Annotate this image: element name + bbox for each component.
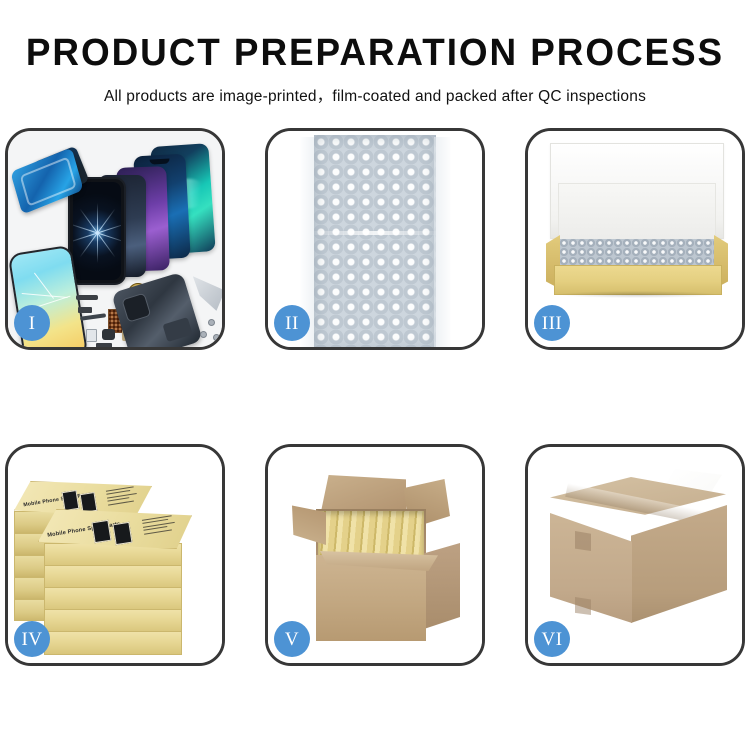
- screw-icon: [208, 319, 215, 326]
- process-step-panel-5[interactable]: V: [265, 444, 485, 666]
- process-step-panel-3[interactable]: III: [525, 128, 745, 350]
- step-badge-1: I: [14, 305, 50, 341]
- part-bracket-icon: [96, 343, 112, 347]
- part-speaker-icon: [76, 295, 98, 300]
- bubble-wrapped-contents-icon: [560, 239, 714, 267]
- process-step-panel-2[interactable]: II: [265, 128, 485, 350]
- screw-icon: [200, 331, 207, 338]
- part-flex-cable-icon: [80, 313, 106, 321]
- box-inner-foam-icon: [558, 183, 716, 243]
- step-badge-5: V: [274, 621, 310, 657]
- step-badge-2: II: [274, 305, 310, 341]
- box-artwork-screen-icon: [112, 522, 132, 545]
- process-step-panel-6[interactable]: VI: [525, 444, 745, 666]
- process-step-panel-1[interactable]: I: [5, 128, 225, 350]
- retail-box-edge: [44, 609, 182, 633]
- box-artwork-screen-icon: [91, 520, 111, 543]
- box-shadow: [558, 291, 716, 298]
- carton-handle-tab-icon: [575, 597, 591, 615]
- process-step-grid: I II III: [0, 128, 750, 666]
- retail-box-edge: [44, 565, 182, 589]
- bubble-wrap-bubbles-icon: [314, 135, 436, 347]
- part-camera-icon: [102, 329, 115, 340]
- box-artwork-screen-icon: [80, 492, 98, 513]
- retail-box-edge: [44, 587, 182, 611]
- retail-box-edge: [44, 631, 182, 655]
- box-spec-lines: [106, 485, 142, 507]
- step-badge-3: III: [534, 305, 570, 341]
- carton-handle-tab-icon: [575, 531, 591, 551]
- page-subtitle: All products are image-printed，film-coat…: [0, 84, 750, 106]
- shattered-pattern: [73, 182, 121, 280]
- bubble-wrap-edge-right: [434, 137, 452, 347]
- screw-icon: [213, 334, 220, 341]
- box-artwork-screen-icon: [62, 490, 80, 511]
- step-badge-6: VI: [534, 621, 570, 657]
- part-bracket-icon: [78, 307, 92, 313]
- page-title: PRODUCT PREPARATION PROCESS: [11, 34, 739, 74]
- tempered-glass-screen-icon: [68, 177, 126, 285]
- part-sim-tray-icon: [86, 329, 97, 342]
- page-header: PRODUCT PREPARATION PROCESS All products…: [0, 0, 750, 106]
- process-step-panel-4[interactable]: Mobile Phone Spare Parts Mobile Phone Sp…: [5, 444, 225, 666]
- box-spec-lines: [142, 514, 180, 536]
- step-badge-4: IV: [14, 621, 50, 657]
